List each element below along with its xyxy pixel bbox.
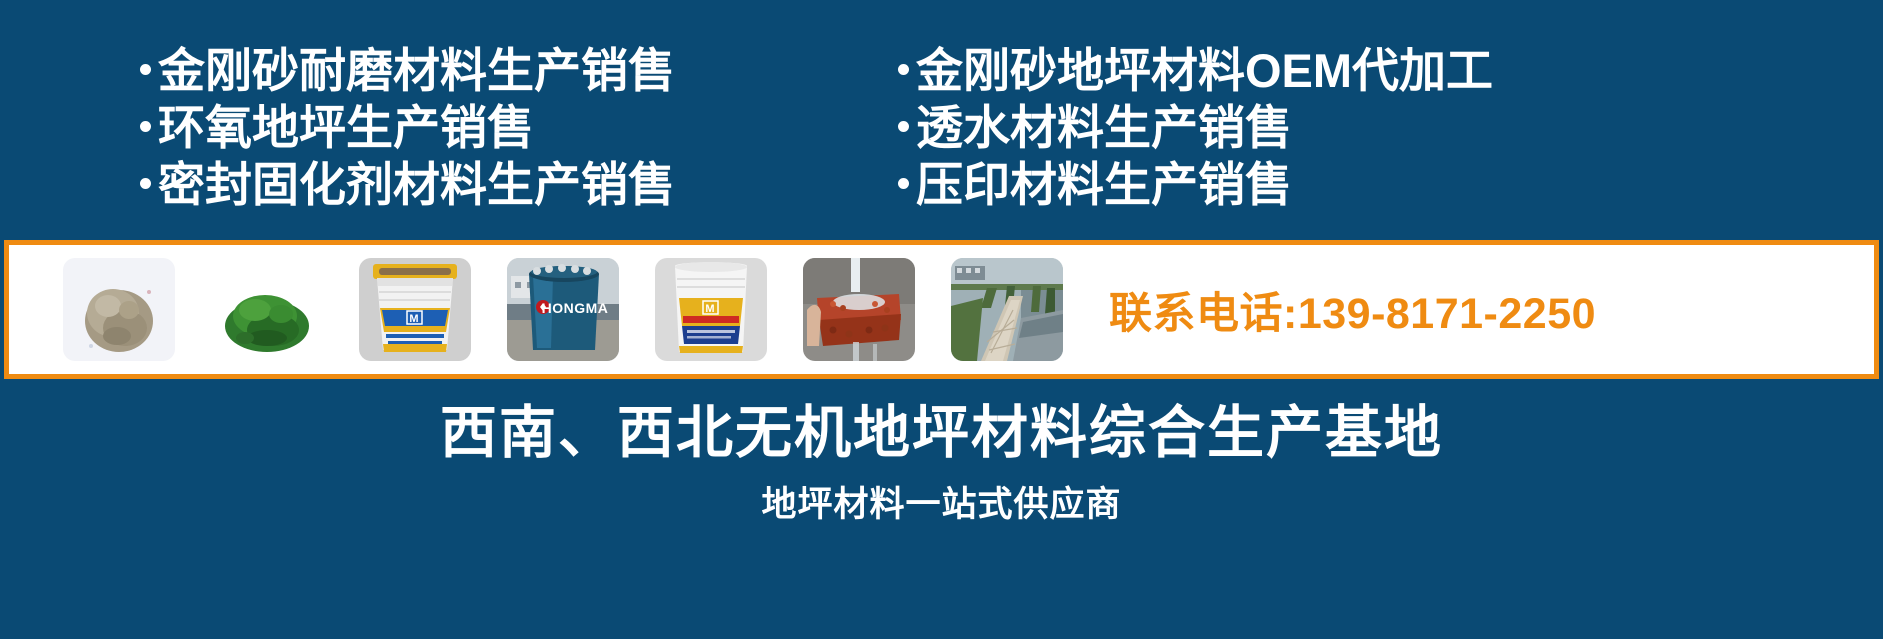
bullet-item: 金刚砂耐磨材料生产销售: [140, 42, 880, 99]
product-thumbnail-list: M: [9, 258, 1063, 361]
main-headline: 西南、西北无机地坪材料综合生产基地: [440, 397, 1443, 469]
contact-phone-number: 联系电话:139-8171-2250: [1109, 279, 1596, 341]
product-thumbnail-hongma-blue-drum: HONGMA: [507, 258, 619, 361]
bullet-label: 金刚砂耐磨材料生产销售: [158, 42, 675, 99]
bullet-item: 环氧地坪生产销售: [140, 99, 880, 156]
bullet-label: 密封固化剂材料生产销售: [158, 156, 675, 213]
bullet-item: 压印材料生产销售: [898, 156, 1883, 213]
bullet-item: 金刚砂地坪材料OEM代加工: [898, 42, 1883, 99]
footer-headline-area: 西南、西北无机地坪材料综合生产基地 地坪材料一站式供应商: [0, 379, 1883, 639]
product-thumbnail-gray-abrasive-powder: [63, 258, 175, 361]
product-thumbnail-stamped-concrete-path: [951, 258, 1063, 361]
advertising-banner: 金刚砂耐磨材料生产销售 环氧地坪生产销售 密封固化剂材料生产销售 金刚砂地坪材料…: [0, 0, 1883, 639]
bullet-label: 金刚砂地坪材料OEM代加工: [916, 42, 1493, 99]
svg-text:M: M: [705, 303, 714, 315]
svg-text:M: M: [409, 313, 418, 325]
sub-headline: 地坪材料一站式供应商: [761, 483, 1121, 527]
product-thumbnail-epoxy-coating-bucket: M: [655, 258, 767, 361]
bullet-label: 压印材料生产销售: [916, 156, 1292, 213]
product-thumbnail-permeable-concrete-sample: [803, 258, 915, 361]
bullet-label: 环氧地坪生产销售: [158, 99, 534, 156]
product-showcase-strip: M: [4, 240, 1879, 379]
services-right-column: 金刚砂地坪材料OEM代加工 透水材料生产销售 压印材料生产销售: [880, 0, 1883, 213]
bullet-dot-icon: [898, 64, 909, 75]
product-thumbnail-sealer-bucket-white-blue: M: [359, 258, 471, 361]
services-left-column: 金刚砂耐磨材料生产销售 环氧地坪生产销售 密封固化剂材料生产销售: [0, 0, 880, 213]
bullet-item: 透水材料生产销售: [898, 99, 1883, 156]
bullet-label: 透水材料生产销售: [916, 99, 1292, 156]
bullet-dot-icon: [898, 178, 909, 189]
bullet-dot-icon: [140, 178, 151, 189]
product-thumbnail-green-abrasive-powder: [211, 258, 323, 361]
bullet-item: 密封固化剂材料生产销售: [140, 156, 880, 213]
bullet-dot-icon: [140, 64, 151, 75]
bullet-dot-icon: [140, 121, 151, 132]
bullet-dot-icon: [898, 121, 909, 132]
svg-text:HONGMA: HONGMA: [542, 300, 609, 316]
